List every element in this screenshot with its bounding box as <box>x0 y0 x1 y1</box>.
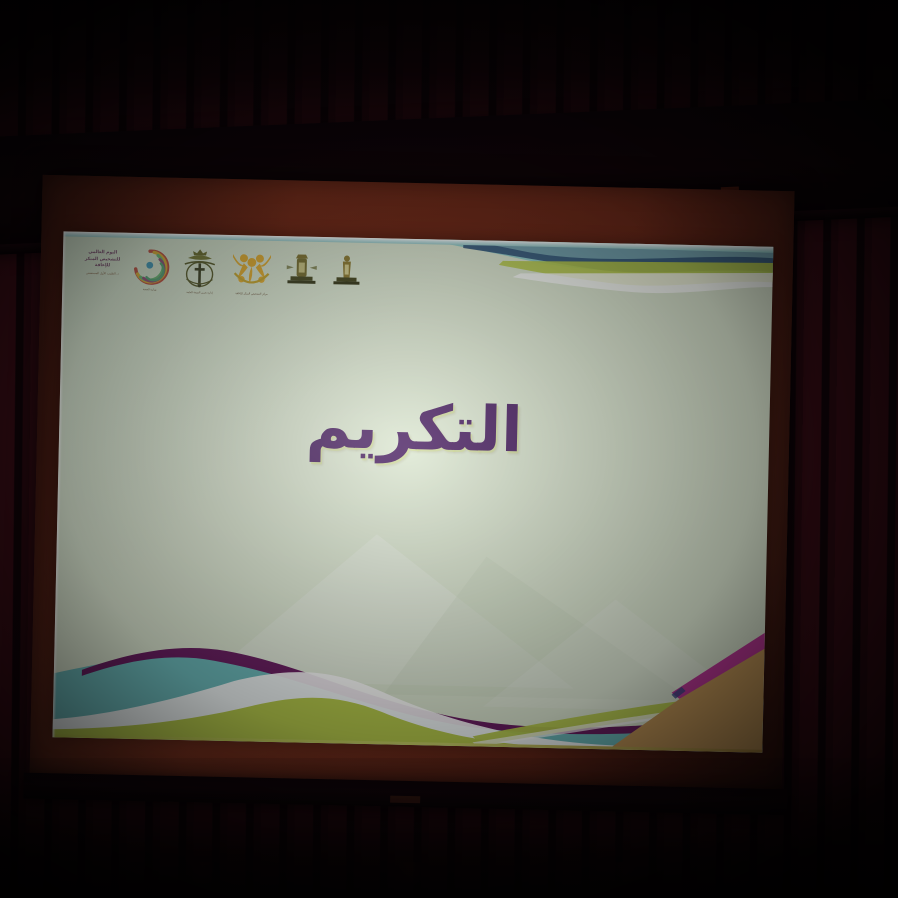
auditorium-scene: اليوم العالمي للتشخيص المبكر للإعاقة د. … <box>0 0 898 898</box>
scene-vignette <box>0 0 898 898</box>
